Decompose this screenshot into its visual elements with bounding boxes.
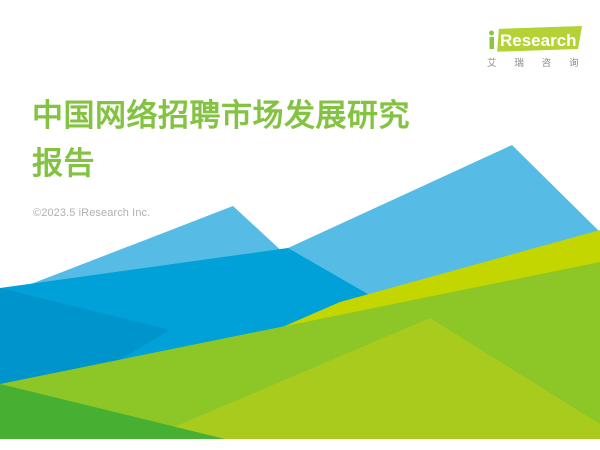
- logo-cn-char-4: 询: [569, 55, 579, 69]
- logo-cn-char-2: 瑞: [514, 55, 524, 69]
- page-title-line-2: 报告: [32, 140, 502, 188]
- logo-cn-char-1: 艾: [487, 55, 497, 69]
- bottom-white-strip: [0, 439, 600, 450]
- logo-wordmark: Research: [500, 31, 577, 50]
- logo-chinese-name: 艾 瑞 咨 询: [487, 55, 579, 69]
- report-cover-page: Research 艾 瑞 咨 询 中国网络招聘市场发展研究 报告 ©2023.5…: [0, 0, 600, 450]
- iresearch-logo-mark: Research: [484, 26, 582, 56]
- copyright-notice: ©2023.5 iResearch Inc.: [33, 207, 150, 219]
- page-title: 中国网络招聘市场发展研究 报告: [32, 92, 502, 188]
- logo-i-dot: [489, 31, 494, 36]
- logo-i-stem: [490, 37, 495, 49]
- logo-cn-char-3: 咨: [542, 55, 552, 69]
- page-title-line-1: 中国网络招聘市场发展研究: [32, 92, 502, 140]
- iresearch-logo[interactable]: Research 艾 瑞 咨 询: [484, 26, 582, 72]
